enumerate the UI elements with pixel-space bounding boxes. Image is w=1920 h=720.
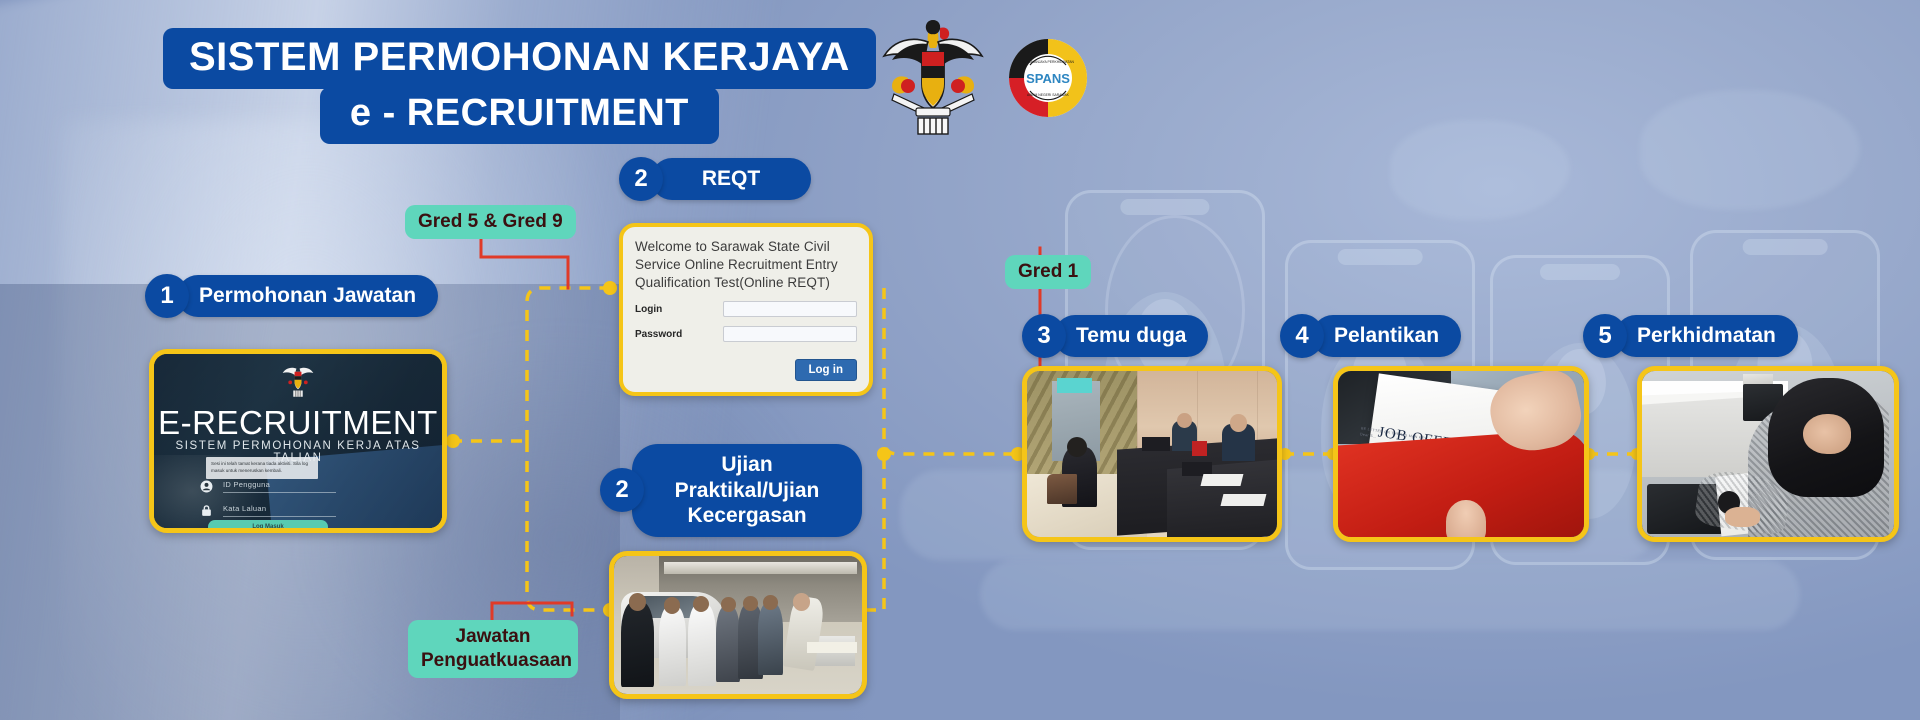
reqt-login-label: Login [635,304,723,315]
grade-tag-gred-5-9: Gred 5 & Gred 9 [405,205,576,239]
erecruitment-password-placeholder: Kata Laluan [223,504,336,517]
step-label-ujian-praktikal[interactable]: Ujian Praktikal/Ujian Kecergasan [632,444,862,537]
erecruitment-title: E-RECRUITMENT [154,406,442,439]
step-number-badge: 4 [1280,314,1324,358]
step-label-perkhidmatan[interactable]: Perkhidmatan [1615,315,1798,357]
reqt-password-label: Password [635,329,723,340]
step-label-permohonan-jawatan[interactable]: Permohonan Jawatan [177,275,438,317]
step-5-perkhidmatan[interactable]: 5 Perkhidmatan [1583,314,1798,358]
reqt-password-row: Password [635,326,857,342]
title-line-1: SISTEM PERMOHONAN KERJAYA [163,28,876,89]
erecruitment-password-field[interactable]: Kata Laluan [200,504,336,517]
reqt-login-button[interactable]: Log in [795,359,858,381]
decorative-blob [980,560,1800,630]
reqt-welcome-text: Welcome to Sarawak State Civil Service O… [635,238,857,292]
step-label-reqt[interactable]: REQT [651,158,811,200]
step-4-pelantikan[interactable]: 4 Pelantikan [1280,314,1461,358]
erecruitment-login-card[interactable]: E-RECRUITMENT SISTEM PERMOHONAN KERJA AT… [149,349,447,533]
step-1-permohonan[interactable]: 1 Permohonan Jawatan [145,274,438,318]
reqt-login-panel[interactable]: Welcome to Sarawak State Civil Service O… [619,223,873,396]
title-line-2: e - RECRUITMENT [320,87,719,144]
lock-icon [200,504,213,517]
sarawak-coat-of-arms-icon [275,358,321,398]
erecruitment-user-placeholder: ID Pengguna [223,480,336,493]
job-offer-letter-photo: BE LETTED OR THER IS MAN KEY…Dear S… JOB… [1333,366,1589,542]
spans-logo-text: SPANS [1026,71,1070,86]
svg-text:AWAM NEGERI SARAWAK: AWAM NEGERI SARAWAK [1027,93,1070,97]
erecruitment-session-notice: Sesi ini telah tamat kerana tiada aktivi… [206,457,318,479]
step-label-temu-duga[interactable]: Temu duga [1054,315,1208,357]
service-photo [1637,366,1899,542]
sarawak-coat-of-arms-icon [878,8,988,136]
step-number-badge: 1 [145,274,189,318]
reqt-password-input[interactable] [723,326,857,342]
reqt-button-row: Log in [635,359,857,381]
practical-test-photo [609,551,867,699]
step-number-badge: 5 [1583,314,1627,358]
svg-text:SURUHANJAYA PERKHIDMATAN: SURUHANJAYA PERKHIDMATAN [1022,60,1074,64]
reqt-login-row: Login [635,301,857,317]
step-2-reqt[interactable]: 2 REQT [619,157,811,201]
step-2-ujian-praktikal[interactable]: 2 Ujian Praktikal/Ujian Kecergasan [600,444,862,537]
reqt-login-input[interactable] [723,301,857,317]
interview-photo [1022,366,1282,542]
step-label-pelantikan[interactable]: Pelantikan [1312,315,1461,357]
page-title: SISTEM PERMOHONAN KERJAYA e - RECRUITMEN… [163,28,876,144]
step-3-temu-duga[interactable]: 3 Temu duga [1022,314,1208,358]
grade-tag-jawatan-penguatkuasaan: Jawatan Penguatkuasaan [408,620,578,678]
erecruitment-login-button[interactable]: Log Masuk [208,520,328,533]
spans-logo-icon: SPANS SURUHANJAYA PERKHIDMATAN AWAM NEGE… [1008,38,1088,118]
step-number-badge: 2 [619,157,663,201]
user-icon [200,480,213,493]
grade-tag-gred-1: Gred 1 [1005,255,1091,289]
erecruitment-user-field[interactable]: ID Pengguna [200,480,336,493]
step-number-badge: 3 [1022,314,1066,358]
